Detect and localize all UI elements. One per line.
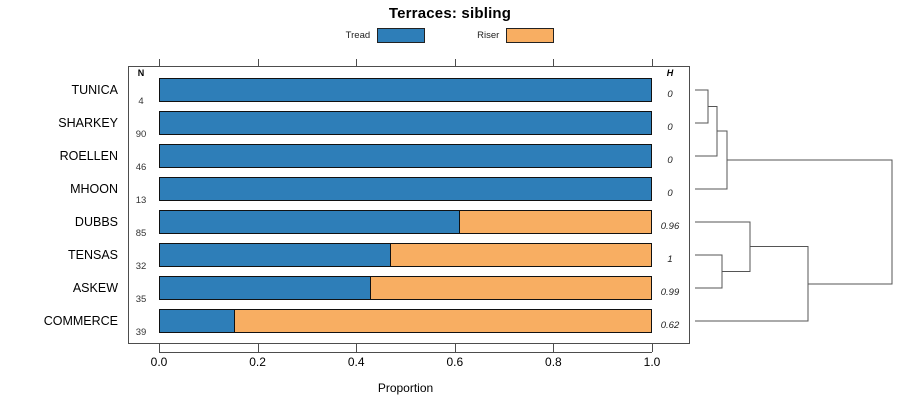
n-value: 46 [128,162,154,173]
n-value: 13 [128,195,154,206]
legend-swatch-riser [506,28,554,43]
bar-row[interactable] [159,111,652,135]
bar-segment-riser[interactable] [459,210,652,234]
category-label: TUNICA [0,83,122,97]
bar-segment-riser[interactable] [234,309,652,333]
n-value: 90 [128,129,154,140]
x-axis-tick [258,344,259,352]
x-axis-tick-label: 0.4 [336,355,376,369]
bar-row[interactable] [159,309,652,333]
n-value: 35 [128,294,154,305]
n-value: 4 [128,96,154,107]
x-axis-tick-label: 0.6 [435,355,475,369]
h-column: H 00000.9610.990.62 [652,66,690,344]
x-axis-top-tick [455,59,456,66]
category-label: MHOON [0,182,122,196]
n-value: 32 [128,261,154,272]
bar-segment-tread[interactable] [159,144,652,168]
h-value: 0.99 [652,287,688,298]
dendro-link-tsr-mhoon [695,131,727,189]
bar-row[interactable] [159,243,652,267]
n-value: 39 [128,327,154,338]
chart-title: Terraces: sibling [0,5,900,22]
h-value: 0.62 [652,320,688,331]
bar-row[interactable] [159,177,652,201]
bar-segment-tread[interactable] [159,276,371,300]
category-label: DUBBS [0,215,122,229]
bar-segment-tread[interactable] [159,78,652,102]
h-value: 0.96 [652,221,688,232]
x-axis-top-tick [553,59,554,66]
x-axis-top-tick [258,59,259,66]
x-axis-tick [553,344,554,352]
bar-segment-tread[interactable] [159,309,235,333]
x-axis-tick-label: 0.8 [533,355,573,369]
bar-segment-tread[interactable] [159,243,391,267]
legend-item-tread: Tread [346,28,425,43]
h-value: 0 [652,155,688,166]
bar-segment-tread[interactable] [159,210,460,234]
x-axis-top-tick [356,59,357,66]
bar-row[interactable] [159,276,652,300]
chart-canvas: Terraces: sibling Tread Riser TUNICASHAR… [0,0,900,420]
bar-segment-tread[interactable] [159,177,652,201]
dendro-link-root [727,160,892,284]
category-label: ASKEW [0,281,122,295]
n-column-header: N [128,68,154,78]
x-axis-top-tick [159,59,160,66]
x-axis-tick-label: 1.0 [632,355,672,369]
chart-legend: Tread Riser [0,28,900,43]
bar-row[interactable] [159,144,652,168]
dendro-link-dta-commerce [695,247,808,322]
h-value: 0 [652,122,688,133]
h-value: 0 [652,89,688,100]
dendro-link-ts-roellen [695,107,717,157]
x-axis-tick-label: 0.0 [139,355,179,369]
stacked-bars [159,66,652,344]
bar-row[interactable] [159,210,652,234]
legend-label-tread: Tread [346,30,377,41]
bar-segment-riser[interactable] [370,276,652,300]
h-value: 0 [652,188,688,199]
category-label: ROELLEN [0,149,122,163]
legend-swatch-tread [377,28,425,43]
x-axis-top-tick [652,59,653,66]
h-column-header: H [652,68,688,78]
dendrogram-svg [690,66,900,344]
x-axis-tick [159,344,160,352]
h-value: 1 [652,254,688,265]
x-axis-tick [455,344,456,352]
category-label: SHARKEY [0,116,122,130]
legend-item-riser: Riser [477,28,554,43]
category-label: COMMERCE [0,314,122,328]
legend-label-riser: Riser [477,30,506,41]
bar-segment-riser[interactable] [390,243,652,267]
category-label: TENSAS [0,248,122,262]
legend-spacer [425,35,477,36]
x-axis-tick [652,344,653,352]
dendrogram [690,66,900,344]
x-axis-line [159,352,652,353]
x-axis-title: Proportion [159,381,652,395]
category-axis-labels: TUNICASHARKEYROELLENMHOONDUBBSTENSASASKE… [0,66,122,344]
bar-segment-tread[interactable] [159,111,652,135]
x-axis-tick-label: 0.2 [238,355,278,369]
x-axis-tick [356,344,357,352]
dendro-link-tunica-sharkey [695,90,708,123]
n-column: N 490461385323539 [128,66,159,344]
n-value: 85 [128,228,154,239]
bar-row[interactable] [159,78,652,102]
dendro-link-tensas-askew [695,255,722,288]
